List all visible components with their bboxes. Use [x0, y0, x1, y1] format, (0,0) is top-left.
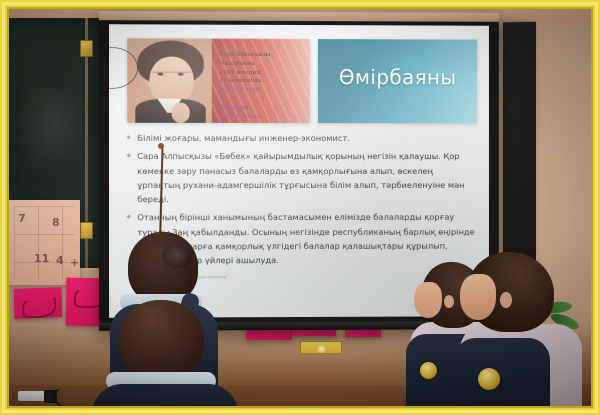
portrait-eye	[157, 73, 163, 76]
plaque-seal-icon	[317, 344, 326, 353]
number-cell: 8	[52, 216, 60, 229]
caption-line: Назарбаева	[220, 60, 306, 69]
student-torso	[92, 384, 238, 415]
uniform-badge-icon	[420, 362, 437, 379]
number-cloth: 7 8 11 4 +	[8, 200, 80, 285]
wall-plaque	[300, 341, 342, 354]
slide-title: Өмірбаяны	[318, 65, 477, 89]
number-cell: 11	[34, 252, 49, 265]
number-cell: +	[70, 256, 79, 269]
uniform-vest	[454, 338, 550, 415]
student-foreground	[100, 300, 230, 415]
student-face	[460, 274, 496, 320]
caption-line: 1941 жылдың	[220, 68, 306, 77]
uniform-badge-icon	[478, 368, 500, 390]
hair-swirl	[162, 244, 192, 268]
screen-top-bar	[99, 11, 499, 22]
caption-line: 12 ақпанында	[220, 77, 306, 86]
slide-bullet: Сара Алпысқызы «Бөбек» қайырымдылық қоры…	[125, 149, 475, 206]
pointer-tip-icon	[158, 143, 164, 149]
student-head	[118, 300, 204, 380]
poster-scribble-icon	[22, 295, 57, 318]
board-hinge-bottom-icon	[80, 222, 93, 239]
portrait-card: Сара Алпысқызы Назарбаева 1941 жылдың 12…	[127, 38, 310, 123]
student-ear	[444, 295, 454, 308]
slide-header: Сара Алпысқызы Назарбаева 1941 жылдың 12…	[109, 24, 489, 125]
caption-line: дүниеге келді	[220, 86, 306, 95]
hanging-cord	[86, 47, 138, 89]
caption-line: Сара Алпысқызы	[220, 51, 306, 60]
portrait-eye	[178, 73, 184, 76]
student-face	[414, 282, 442, 318]
portrait-photo	[127, 38, 212, 123]
caption-sub-line: Республикасы	[220, 113, 262, 119]
classroom-photo: 7 8 11 4 +	[0, 0, 600, 415]
caption-sub-line: Қазақстан	[220, 104, 306, 113]
student-right-front	[460, 252, 590, 415]
portrait-hand	[172, 103, 190, 123]
slide-bullet: Білімі жоғары, мамандығы инженер-экономи…	[125, 131, 475, 146]
wall-poster	[13, 287, 62, 319]
number-cell: 4	[56, 254, 64, 267]
chalk-smudge	[22, 88, 92, 178]
portrait-caption: Сара Алпысқызы Назарбаева 1941 жылдың 12…	[220, 51, 306, 122]
student-ear	[500, 292, 512, 308]
number-cell: 7	[18, 212, 26, 225]
slide-title-banner: Өмірбаяны	[318, 39, 477, 123]
